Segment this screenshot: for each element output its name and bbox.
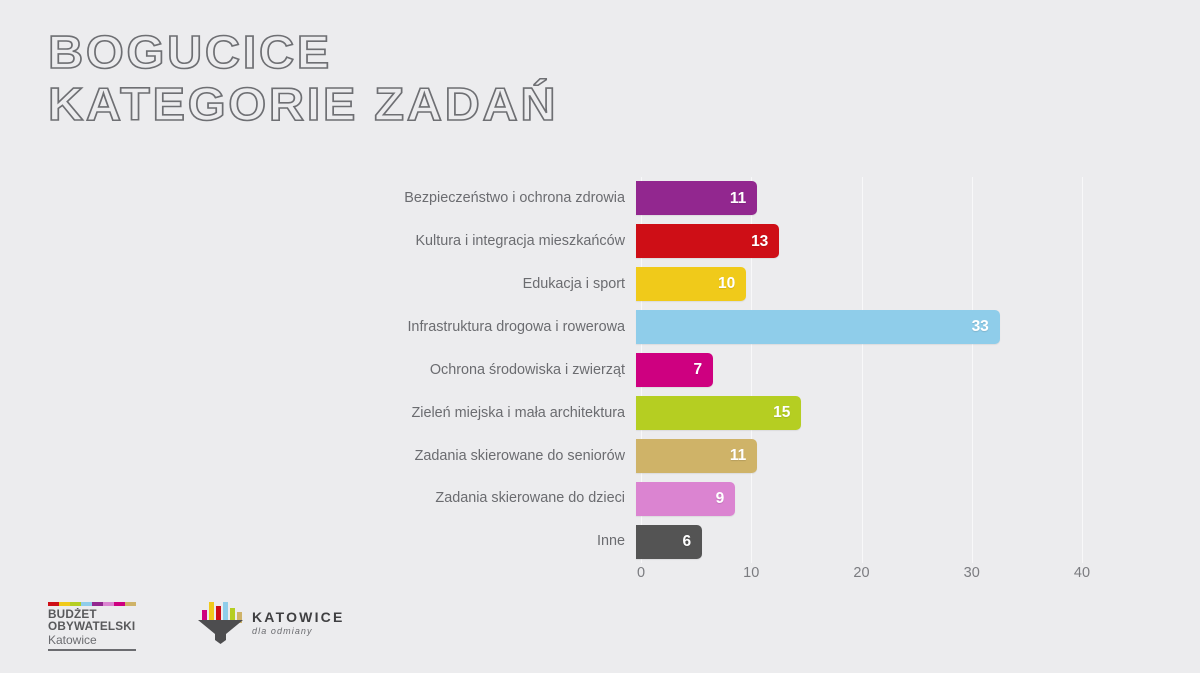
- katowice-funnel-icon: [198, 620, 243, 644]
- category-label: Ochrona środowiska i zwierząt: [340, 363, 636, 377]
- stripe-segment: [70, 602, 81, 606]
- bar[interactable]: 10: [636, 267, 746, 301]
- bar[interactable]: 15: [636, 396, 801, 430]
- bar-track: 13: [636, 220, 1082, 263]
- bar[interactable]: 13: [636, 224, 779, 258]
- bar-value-label: 7: [694, 362, 714, 378]
- bar[interactable]: 11: [636, 439, 757, 473]
- x-axis-tick-label: 40: [1074, 566, 1090, 581]
- bar-track: 6: [636, 520, 1082, 563]
- bar-value-label: 15: [773, 405, 801, 421]
- x-axis-tick-label: 20: [853, 566, 869, 581]
- bar[interactable]: 6: [636, 525, 702, 559]
- category-label: Zadania skierowane do dzieci: [340, 491, 636, 505]
- category-label: Bezpieczeństwo i ochrona zdrowia: [340, 191, 636, 205]
- chart-row: Kultura i integracja mieszkańców13: [340, 220, 1082, 263]
- budzet-obywatelski-logo: BUDŻET OBYWATELSKI Katowice: [48, 602, 136, 651]
- stripe-segment: [48, 602, 59, 606]
- stripe-segment: [125, 602, 136, 606]
- chart-row: Edukacja i sport10: [340, 263, 1082, 306]
- chart-row: Zadania skierowane do dzieci9: [340, 477, 1082, 520]
- bar-value-label: 6: [683, 534, 703, 550]
- bar[interactable]: 11: [636, 181, 757, 215]
- bar-value-label: 11: [730, 191, 757, 207]
- chart-row: Zadania skierowane do seniorów11: [340, 434, 1082, 477]
- chart-row: Bezpieczeństwo i ochrona zdrowia11: [340, 177, 1082, 220]
- bar-value-label: 10: [718, 276, 746, 292]
- bar-value-label: 33: [972, 319, 1000, 335]
- chart-row: Zieleń miejska i mała architektura15: [340, 391, 1082, 434]
- bar-track: 33: [636, 306, 1082, 349]
- bar-track: 9: [636, 477, 1082, 520]
- bar[interactable]: 7: [636, 353, 713, 387]
- x-axis-tick-label: 0: [637, 566, 645, 581]
- chart-rows: Bezpieczeństwo i ochrona zdrowia11Kultur…: [340, 177, 1082, 563]
- chart-row: Ochrona środowiska i zwierząt7: [340, 349, 1082, 392]
- katowice-tagline: dla odmiany: [252, 625, 345, 637]
- stripe-segment: [103, 602, 114, 606]
- bar[interactable]: 9: [636, 482, 735, 516]
- x-axis-tick-label: 10: [743, 566, 759, 581]
- bar-track: 7: [636, 349, 1082, 392]
- bar[interactable]: 33: [636, 310, 1000, 344]
- x-axis-tick-label: 30: [964, 566, 980, 581]
- katowice-wordmark: KATOWICE dla odmiany: [252, 610, 345, 637]
- category-label: Inne: [340, 534, 636, 548]
- katowice-name: KATOWICE: [252, 610, 345, 625]
- bo-line-1: BUDŻET: [48, 609, 138, 621]
- chart-row: Infrastruktura drogowa i rowerowa33: [340, 306, 1082, 349]
- stripe-segment: [92, 602, 103, 606]
- bo-line-3: Katowice: [48, 633, 136, 648]
- bo-line-2: OBYWATELSKI: [48, 621, 138, 633]
- category-label: Kultura i integracja mieszkańców: [340, 234, 636, 248]
- category-label: Zadania skierowane do seniorów: [340, 449, 636, 463]
- bar-track: 10: [636, 263, 1082, 306]
- chart-row: Inne6: [340, 520, 1082, 563]
- katowice-logo: KATOWICE dla odmiany: [198, 602, 345, 644]
- bar-chart: Bezpieczeństwo i ochrona zdrowia11Kultur…: [0, 0, 1200, 673]
- katowice-mark-icon: [198, 602, 243, 644]
- stripe-segment: [114, 602, 125, 606]
- bar-track: 15: [636, 391, 1082, 434]
- stripe-bar-icon: [48, 602, 136, 606]
- category-label: Zieleń miejska i mała architektura: [340, 406, 636, 420]
- stripe-segment: [59, 602, 70, 606]
- x-axis: 010203040: [641, 566, 1082, 592]
- bar-value-label: 13: [751, 234, 779, 250]
- category-label: Edukacja i sport: [340, 277, 636, 291]
- bar-value-label: 11: [730, 448, 757, 464]
- stripe-segment: [81, 602, 92, 606]
- bar-track: 11: [636, 434, 1082, 477]
- gridline: [1082, 177, 1083, 563]
- bo-divider: [48, 649, 136, 651]
- footer-logos: BUDŻET OBYWATELSKI Katowice KATOWICE dla…: [48, 602, 345, 651]
- category-label: Infrastruktura drogowa i rowerowa: [340, 320, 636, 334]
- bar-track: 11: [636, 177, 1082, 220]
- bar-value-label: 9: [716, 491, 736, 507]
